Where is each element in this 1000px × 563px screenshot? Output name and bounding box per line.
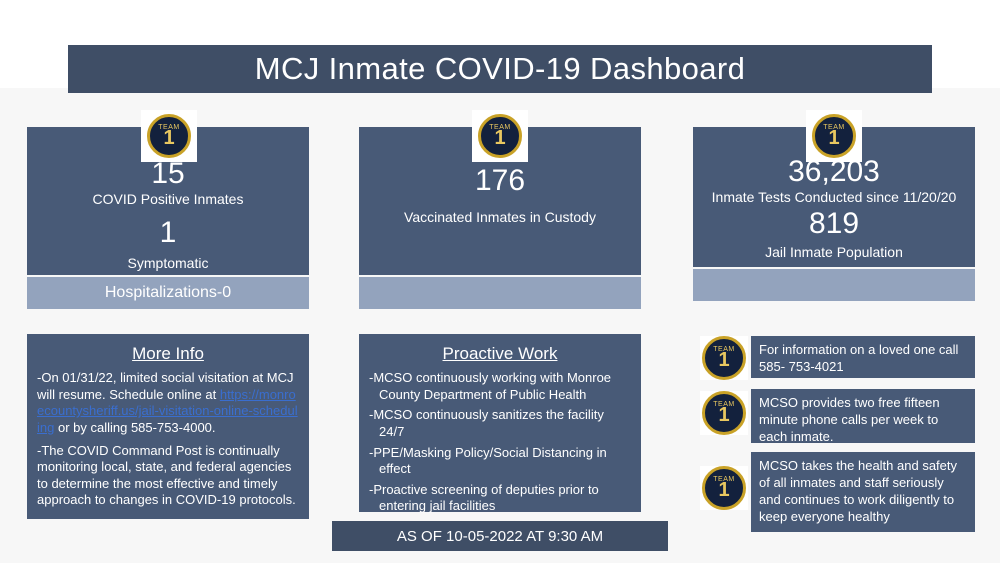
badge-number-text: 1: [718, 480, 729, 500]
badge-number-text: 1: [718, 405, 729, 425]
covid-positive-label: COVID Positive Inmates: [27, 190, 309, 208]
badge-number-text: 1: [494, 128, 505, 148]
note-text: For information on a loved one call 585-…: [759, 342, 958, 374]
team-one-badge-wrap-note-1: TEAM 1: [700, 336, 748, 380]
hospitalizations-strip: Hospitalizations-0: [27, 277, 309, 309]
team-one-badge-wrap-1: TEAM 1: [141, 110, 197, 162]
proactive-item: -Proactive screening of deputies prior t…: [369, 482, 631, 515]
proactive-item: -MCSO continuously sanitizes the facilit…: [369, 407, 631, 440]
as-of-bar: AS OF 10-05-2022 AT 9:30 AM: [332, 521, 668, 551]
dashboard-title-bar: MCJ Inmate COVID-19 Dashboard: [68, 45, 932, 93]
more-info-line-2: -The COVID Command Post is continually m…: [37, 443, 299, 510]
team-one-badge-icon: TEAM 1: [702, 336, 746, 380]
more-info-box: More Info -On 01/31/22, limited social v…: [27, 334, 309, 519]
symptomatic-label: Symptomatic: [27, 254, 309, 272]
more-info-line-1: -On 01/31/22, limited social visitation …: [37, 370, 299, 437]
badge-number-text: 1: [718, 350, 729, 370]
note-phone-calls: MCSO provides two free fifteen minute ph…: [751, 389, 975, 443]
proactive-work-heading: Proactive Work: [369, 344, 631, 364]
badge-number-text: 1: [828, 128, 839, 148]
note-text: MCSO takes the health and safety of all …: [759, 458, 957, 524]
jail-population-value: 819: [693, 208, 975, 240]
proactive-work-box: Proactive Work -MCSO continuously workin…: [359, 334, 641, 512]
tests-conducted-label: Inmate Tests Conducted since 11/20/20: [693, 188, 975, 206]
page-title: MCJ Inmate COVID-19 Dashboard: [255, 51, 746, 87]
covid-positive-value: 15: [27, 158, 309, 190]
more-info-line-1-tail: or by calling 585-753-4000.: [54, 420, 215, 435]
vaccinated-label: Vaccinated Inmates in Custody: [359, 208, 641, 226]
tests-footer-strip: [693, 269, 975, 301]
team-one-badge-icon: TEAM 1: [702, 466, 746, 510]
vaccinated-footer-strip: [359, 277, 641, 309]
team-one-badge-wrap-note-2: TEAM 1: [700, 391, 748, 435]
team-one-badge-wrap-note-3: TEAM 1: [700, 466, 748, 510]
team-one-badge-icon: TEAM 1: [147, 114, 191, 158]
symptomatic-value: 1: [27, 217, 309, 249]
note-text: MCSO provides two free fifteen minute ph…: [759, 395, 940, 444]
jail-population-label: Jail Inmate Population: [693, 243, 975, 261]
proactive-item: -MCSO continuously working with Monroe C…: [369, 370, 631, 403]
as-of-label: AS OF 10-05-2022 AT 9:30 AM: [397, 528, 603, 545]
team-one-badge-icon: TEAM 1: [702, 391, 746, 435]
note-loved-one-call: For information on a loved one call 585-…: [751, 336, 975, 378]
more-info-heading: More Info: [37, 344, 299, 364]
team-one-badge-wrap-2: TEAM 1: [472, 110, 528, 162]
team-one-badge-icon: TEAM 1: [812, 114, 856, 158]
team-one-badge-wrap-3: TEAM 1: [806, 110, 862, 162]
badge-number-text: 1: [163, 128, 174, 148]
proactive-item: -PPE/Masking Policy/Social Distancing in…: [369, 445, 631, 478]
team-one-badge-icon: TEAM 1: [478, 114, 522, 158]
hospitalizations-label: Hospitalizations-0: [105, 284, 231, 302]
note-health-safety: MCSO takes the health and safety of all …: [751, 452, 975, 532]
vaccinated-value: 176: [359, 165, 641, 197]
